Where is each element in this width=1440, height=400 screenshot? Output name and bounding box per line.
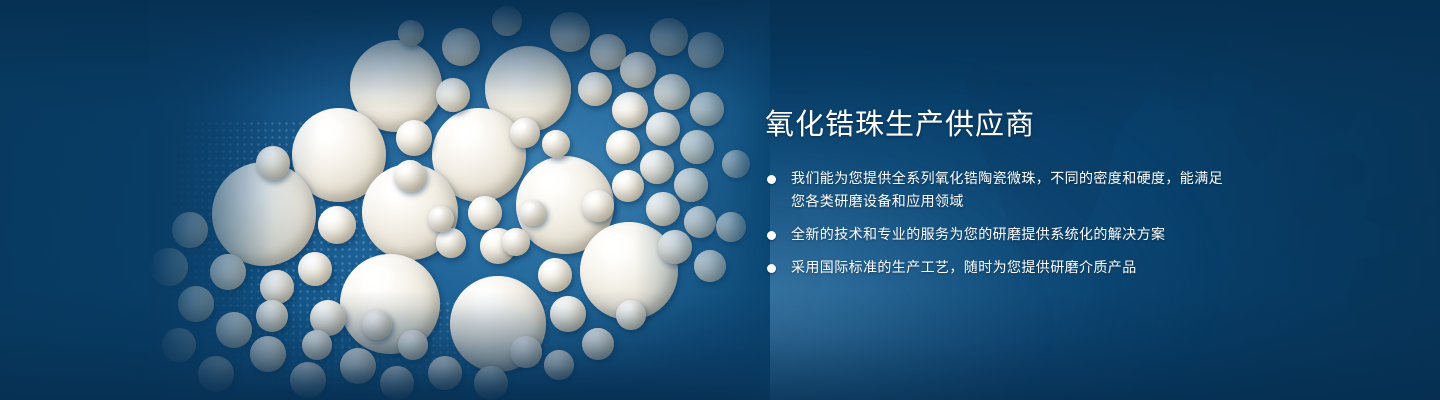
bead bbox=[606, 130, 640, 164]
bead bbox=[510, 118, 540, 148]
bead bbox=[538, 258, 572, 292]
bead bbox=[646, 192, 680, 226]
bead bbox=[502, 228, 530, 256]
bullet-dot-icon bbox=[767, 264, 776, 273]
bead bbox=[674, 168, 708, 202]
banner-bullet-text: 我们能为您提供全系列氧化锆陶瓷微珠，不同的密度和硬度，能满足您各类研磨设备和应用… bbox=[791, 171, 1223, 210]
bead bbox=[684, 206, 716, 238]
bead bbox=[680, 130, 714, 164]
bead bbox=[658, 230, 692, 264]
banner-headline: 氧化锆珠生产供应商 bbox=[765, 106, 1235, 142]
banner-bullet-text: 全新的技术和专业的服务为您的研磨提供系统化的解决方案 bbox=[791, 227, 1165, 243]
bullet-dot-icon bbox=[767, 175, 776, 184]
bead bbox=[612, 170, 644, 202]
bead bbox=[694, 250, 726, 282]
bead bbox=[318, 206, 356, 244]
bead bbox=[640, 150, 674, 184]
banner-bullet-text: 采用国际标准的生产工艺，随时为您提供研磨介质产品 bbox=[791, 260, 1137, 276]
banner-bullet-item: 全新的技术和专业的服务为您的研磨提供系统化的解决方案 bbox=[765, 224, 1235, 247]
bead bbox=[542, 130, 570, 158]
bead bbox=[436, 228, 466, 258]
bottom-vignette bbox=[0, 290, 1440, 400]
banner-bullet-item: 我们能为您提供全系列氧化锆陶瓷微珠，不同的密度和硬度，能满足您各类研磨设备和应用… bbox=[765, 168, 1235, 214]
bead bbox=[646, 112, 680, 146]
bead bbox=[520, 200, 546, 226]
bead bbox=[722, 150, 750, 178]
top-vignette bbox=[0, 0, 1440, 110]
bead bbox=[716, 212, 746, 242]
bullet-dot-icon bbox=[767, 231, 776, 240]
banner-content: 氧化锆珠生产供应商 我们能为您提供全系列氧化锆陶瓷微珠，不同的密度和硬度，能满足… bbox=[765, 106, 1235, 280]
bead bbox=[396, 120, 432, 156]
bead bbox=[428, 206, 454, 232]
bead bbox=[394, 160, 426, 192]
banner-bullet-item: 采用国际标准的生产工艺，随时为您提供研磨介质产品 bbox=[765, 257, 1235, 280]
bead bbox=[468, 196, 502, 230]
bead bbox=[582, 190, 614, 222]
hero-banner: 氧化锆珠生产供应商 我们能为您提供全系列氧化锆陶瓷微珠，不同的密度和硬度，能满足… bbox=[0, 0, 1440, 400]
banner-bullet-list: 我们能为您提供全系列氧化锆陶瓷微珠，不同的密度和硬度，能满足您各类研磨设备和应用… bbox=[765, 168, 1235, 280]
